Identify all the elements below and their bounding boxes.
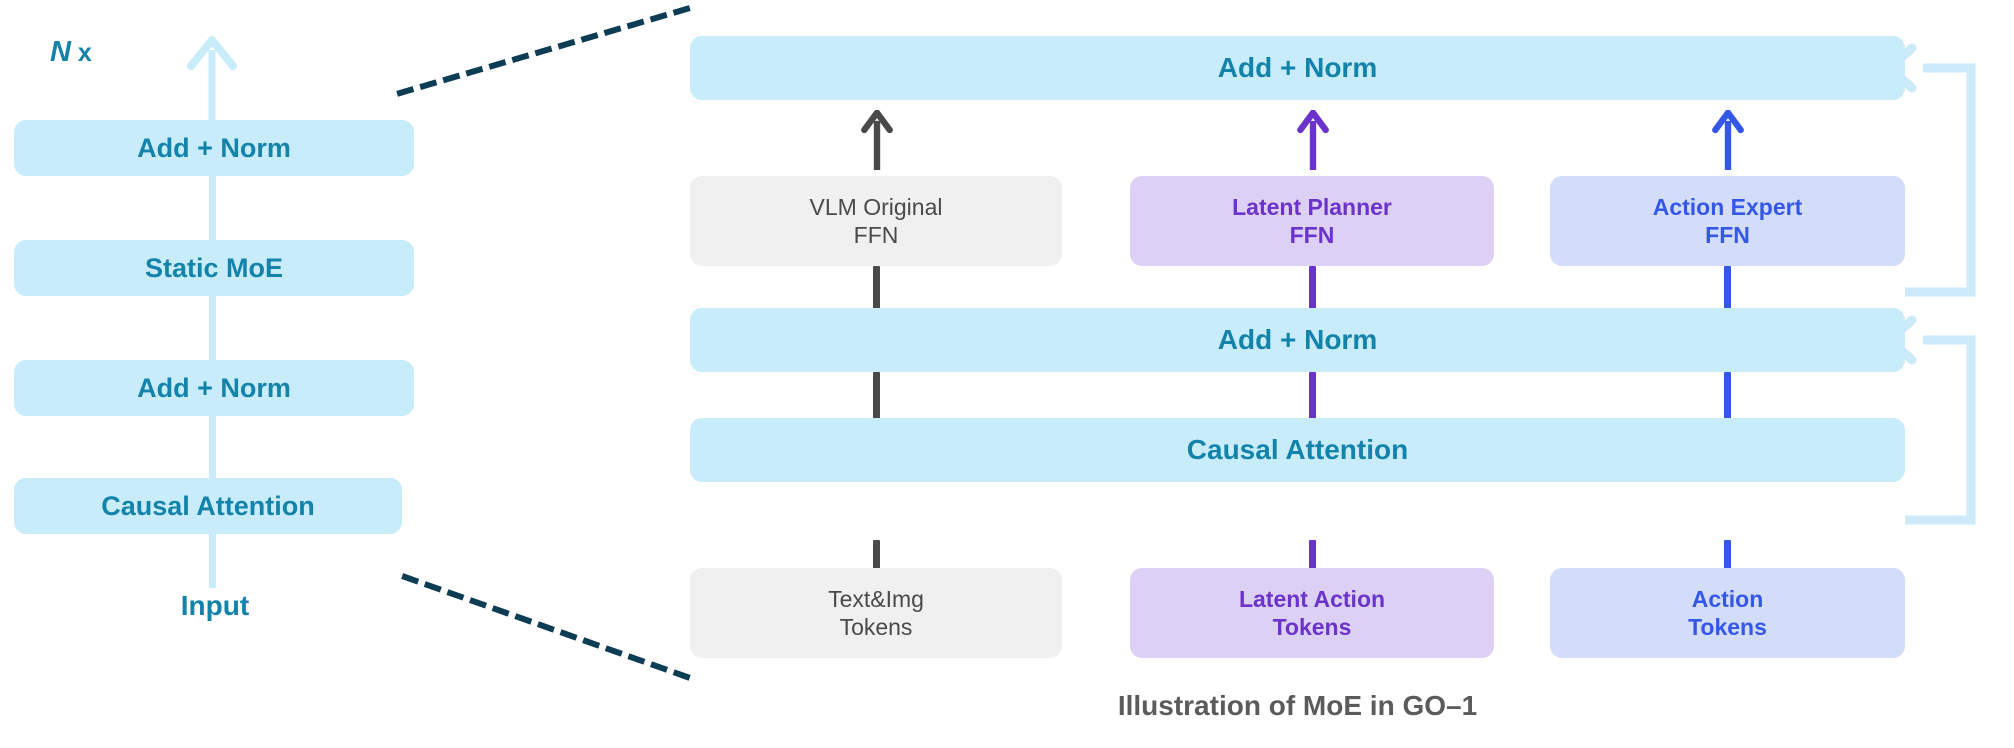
left-block-add-norm-bottom: Add + Norm	[14, 360, 414, 416]
tokens-text-img: Text&Img Tokens	[690, 568, 1062, 658]
dotted-connector-bottom	[405, 577, 690, 678]
left-block-add-norm-top: Add + Norm	[14, 120, 414, 176]
spine-segment	[209, 296, 216, 362]
stem-blue-norm-to-ffn	[1724, 266, 1731, 310]
repeat-count-n: N	[50, 36, 71, 68]
stem-blue-token-to-attn	[1724, 540, 1731, 570]
spine-segment	[209, 176, 216, 242]
arrow-up-blue-icon	[1711, 110, 1745, 170]
stem-gray-token-to-attn	[873, 540, 880, 570]
arrow-up-gray-icon	[860, 110, 894, 170]
ffn-vlm-original: VLM Original FFN	[690, 176, 1062, 266]
tokens-latent-action: Latent Action Tokens	[1130, 568, 1494, 658]
residual-path-upper	[1905, 68, 1971, 292]
ffn-action-expert: Action Expert FFN	[1550, 176, 1905, 266]
arrow-up-purple-icon	[1296, 110, 1330, 170]
moe-detail-panel: Add + Norm VLM Original FFN Latent Plann…	[690, 0, 2014, 748]
stem-purple-norm-to-ffn	[1309, 266, 1316, 310]
stem-purple-attn-to-norm	[1309, 372, 1316, 420]
stem-purple-token-to-attn	[1309, 540, 1316, 570]
spine-segment	[209, 416, 216, 480]
output-arrow-up-icon	[186, 36, 238, 126]
repeat-count-label: N x	[50, 36, 92, 69]
left-block-causal-attention: Causal Attention	[14, 478, 402, 534]
repeat-count-x: x	[71, 39, 92, 67]
diagram-canvas: N x Add + Norm Static MoE Add + Norm Cau…	[0, 0, 2014, 748]
figure-caption: Illustration of MoE in GO–1	[690, 690, 1905, 722]
dotted-connector-top	[400, 8, 690, 93]
tokens-action: Action Tokens	[1550, 568, 1905, 658]
right-add-norm-top: Add + Norm	[690, 36, 1905, 100]
stem-gray-norm-to-ffn	[873, 266, 880, 310]
stem-gray-attn-to-norm	[873, 372, 880, 420]
left-transformer-stack: N x Add + Norm Static MoE Add + Norm Cau…	[0, 0, 430, 748]
right-causal-attention: Causal Attention	[690, 418, 1905, 482]
residual-path-lower	[1905, 340, 1971, 520]
stem-blue-attn-to-norm	[1724, 372, 1731, 420]
left-block-static-moe: Static MoE	[14, 240, 414, 296]
input-label: Input	[0, 590, 430, 622]
right-add-norm-mid: Add + Norm	[690, 308, 1905, 372]
ffn-latent-planner: Latent Planner FFN	[1130, 176, 1494, 266]
spine-segment	[209, 534, 216, 588]
